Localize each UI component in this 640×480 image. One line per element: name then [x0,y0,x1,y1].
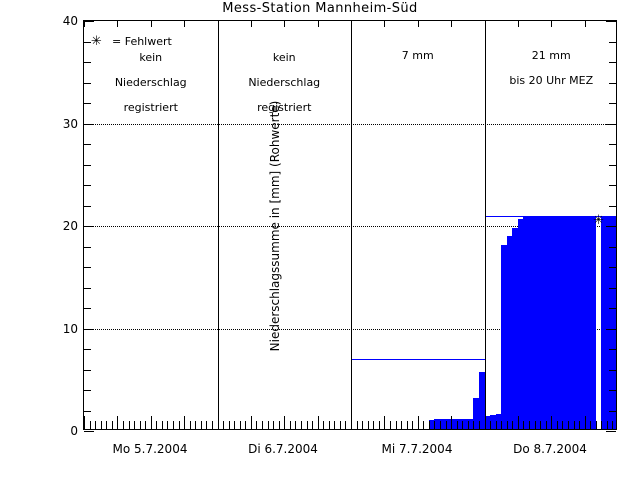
y-tick-right-34 [609,83,616,84]
y-tick-right-16 [609,267,616,268]
y-tick-10 [84,329,94,330]
y-tick-right-10 [606,329,616,330]
x-axis-label-day-1: Di 6.7.2004 [216,442,350,456]
x-tick [523,421,524,429]
y-tick-28 [84,144,91,145]
y-tick-4 [84,390,91,391]
x-tick [540,421,541,429]
y-tick-8 [84,349,91,350]
y-tick-40 [84,21,94,22]
y-tick-2 [84,411,91,412]
y-tick-24 [84,185,91,186]
panel-note-3-line-0: 21 mm [485,47,617,64]
x-axis-label-day-3: Do 8.7.2004 [483,442,617,456]
x-tick [485,416,486,429]
x-axis-label-day-0: Mo 5.7.2004 [83,442,217,456]
panel-note-3-line-1: bis 20 Uhr MEZ [485,72,617,89]
y-tick-32 [84,103,91,104]
y-tick-right-6 [609,370,616,371]
x-tick [512,421,513,429]
x-tick [490,421,491,429]
y-tick-label-0: 0 [46,425,78,437]
y-tick-right-30 [606,124,616,125]
y-tick-label-30: 30 [46,118,78,130]
y-tick-right-28 [609,144,616,145]
x-tick [546,421,547,429]
x-tick [518,416,519,429]
y-tick-right-20 [606,226,616,227]
y-tick-right-12 [609,308,616,309]
x-tick-top [551,21,552,27]
chart-screenshot: Mess-Station Mannheim-Süd ✳keinNiedersch… [0,0,640,480]
y-tick-36 [84,62,91,63]
y-tick-right-32 [609,103,616,104]
plot-area: ✳keinNiederschlagregistriertkeinNiedersc… [83,20,617,430]
x-tick-top [585,21,586,27]
y-tick-right-18 [609,247,616,248]
missing-value-marker: ✳ [593,216,604,226]
x-tick [601,421,602,429]
x-tick-top [518,21,519,27]
y-tick-right-0 [606,431,616,432]
y-tick-label-10: 10 [46,323,78,335]
x-tick [585,416,586,429]
x-tick [568,421,569,429]
y-tick-right-2 [609,411,616,412]
bar [612,216,616,429]
y-tick-38 [84,42,91,43]
x-tick [501,421,502,429]
x-tick [612,421,613,429]
x-tick [507,421,508,429]
y-tick-right-24 [609,185,616,186]
x-tick [579,421,580,429]
x-tick-top [485,21,486,27]
x-tick [562,421,563,429]
y-tick-0 [84,431,94,432]
x-tick [529,421,530,429]
chart-title: Mess-Station Mannheim-Süd [0,1,640,16]
y-tick-18 [84,247,91,248]
x-tick [596,421,597,429]
y-tick-26 [84,165,91,166]
x-tick [551,416,552,429]
y-tick-6 [84,370,91,371]
x-tick [574,421,575,429]
y-tick-right-8 [609,349,616,350]
x-tick [557,421,558,429]
y-tick-16 [84,267,91,268]
y-tick-right-22 [609,206,616,207]
y-tick-14 [84,288,91,289]
x-tick [607,421,608,429]
y-axis-title: Niederschlagssumme in [mm] (Rohwerte) [70,21,480,431]
x-axis-label-day-2: Mi 7.7.2004 [350,442,484,456]
y-tick-30 [84,124,94,125]
x-tick [496,421,497,429]
y-tick-22 [84,206,91,207]
y-tick-20 [84,226,94,227]
y-tick-34 [84,83,91,84]
y-tick-right-4 [609,390,616,391]
x-tick [590,421,591,429]
y-tick-12 [84,308,91,309]
y-tick-right-14 [609,288,616,289]
bar [590,216,596,429]
y-tick-right-40 [606,21,616,22]
y-tick-right-36 [609,62,616,63]
y-tick-right-38 [609,42,616,43]
y-tick-label-20: 20 [46,220,78,232]
x-tick [535,421,536,429]
y-tick-right-26 [609,165,616,166]
y-tick-label-40: 40 [46,15,78,27]
